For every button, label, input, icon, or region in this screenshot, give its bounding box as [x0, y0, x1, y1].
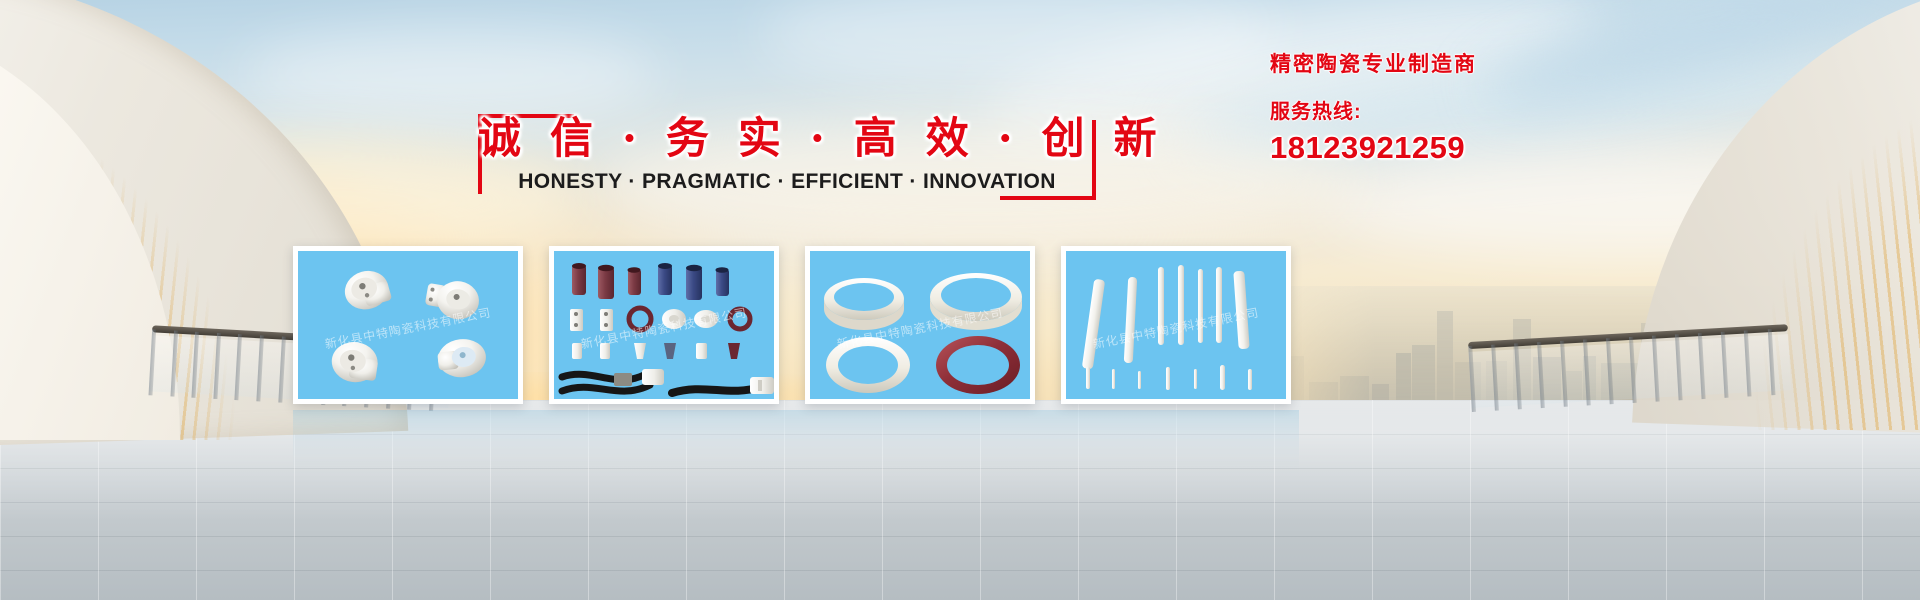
promo-banner: 诚 信 · 务 实 · 高 效 · 创 新 HONESTY · PRAGMATI…	[0, 0, 1920, 600]
hotline-label: 服务热线:	[1270, 95, 1690, 124]
ceramic-ring-parts-illustration	[810, 251, 1035, 404]
product-panel-ceramic-rings[interactable]: 新化县中特陶瓷科技有限公司	[805, 246, 1035, 404]
product-panel-row: 新化县中特陶瓷科技有限公司	[293, 246, 1291, 404]
tube-and-connector-parts-illustration	[554, 251, 779, 404]
slogan-english: HONESTY · PRAGMATIC · EFFICIENT · INNOVA…	[478, 170, 1096, 194]
company-tagline: 精密陶瓷专业制造商	[1270, 52, 1690, 78]
panels-reflection	[293, 410, 1299, 478]
ceramic-rod-parts-illustration	[1066, 251, 1291, 404]
slogan-chinese: 诚 信 · 务 实 · 高 效 · 创 新	[478, 104, 1096, 166]
product-panel-insulators[interactable]: 新化县中特陶瓷科技有限公司	[293, 246, 523, 404]
product-panel-ceramic-rods[interactable]: 新化县中特陶瓷科技有限公司	[1061, 246, 1291, 404]
insulator-parts-illustration	[298, 251, 523, 404]
slogan-block: 诚 信 · 务 实 · 高 效 · 创 新 HONESTY · PRAGMATI…	[478, 108, 1096, 200]
contact-block: 精密陶瓷专业制造商 服务热线: 18123921259	[1270, 52, 1690, 166]
hotline-number[interactable]: 18123921259	[1270, 130, 1690, 166]
product-panel-tubes-and-connectors[interactable]: 新化县中特陶瓷科技有限公司	[549, 246, 779, 404]
